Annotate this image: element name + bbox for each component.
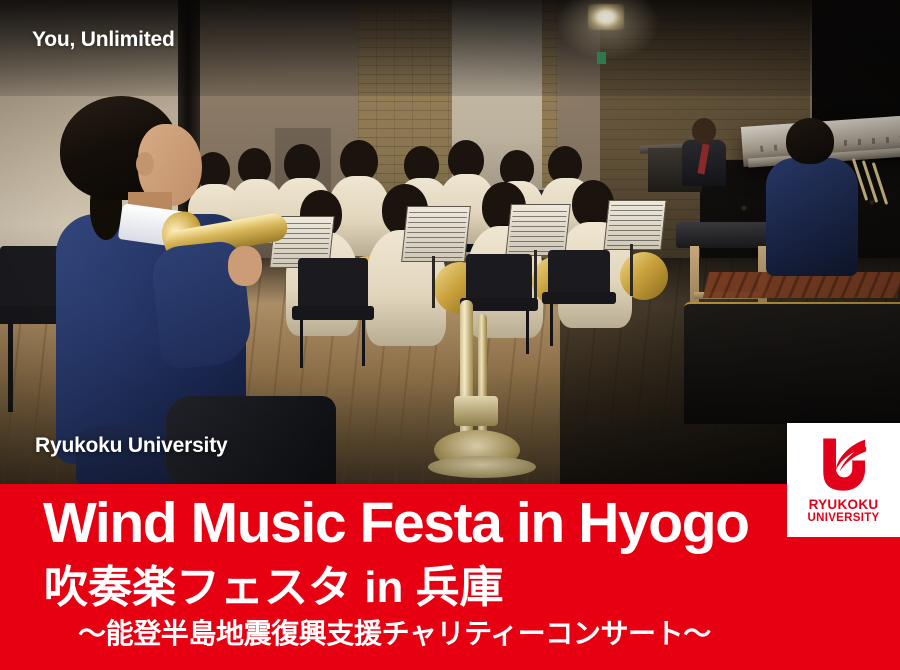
logo-name-line1: RYUKOKU: [787, 497, 900, 512]
stage-chair-back: [466, 254, 532, 302]
spotlight-icon: [588, 4, 624, 30]
sheet-music: [607, 204, 663, 246]
music-stand-pole: [534, 250, 537, 304]
music-stand: [603, 200, 666, 250]
poster-root: You, Unlimited Ryukoku University Wind M…: [0, 0, 900, 670]
concert-photo: You, Unlimited Ryukoku University: [0, 0, 900, 492]
music-stand-pole: [630, 244, 633, 296]
stage-chair-leg: [550, 304, 553, 346]
stage-chair-leg: [8, 322, 13, 412]
stage-chair-seat: [542, 292, 616, 304]
trumpet-stand-base: [428, 456, 536, 478]
stage-chair-leg: [300, 318, 303, 368]
stage-chair-back: [298, 258, 368, 310]
percussionist-head: [786, 118, 834, 164]
conductor-head: [692, 118, 716, 144]
sheet-music: [509, 208, 568, 252]
exit-sign-icon: [597, 52, 606, 64]
event-title-en: Wind Music Festa in Hyogo: [43, 495, 749, 552]
music-stand: [505, 204, 570, 256]
university-logo: RYUKOKU UNIVERSITY: [787, 423, 900, 537]
logo-wordmark: RYUKOKU UNIVERSITY: [787, 497, 900, 525]
percussionist-body: [766, 158, 858, 276]
tagline-text: You, Unlimited: [32, 28, 175, 52]
event-subtitle-ja: 〜能登半島地震復興支援チャリティーコンサート〜: [78, 620, 711, 648]
conductor: [680, 118, 726, 184]
university-caption: Ryukoku University: [35, 434, 227, 458]
ryukoku-u-wing-icon: [814, 435, 872, 493]
house-light: [870, 200, 874, 204]
foreground-trumpet-player: [46, 96, 296, 492]
player-ear: [136, 152, 154, 176]
event-title-ja: 吹奏楽フェスタ in 兵庫: [44, 566, 504, 610]
marimba-body: [684, 302, 900, 424]
music-stand: [401, 206, 471, 262]
stage-chair-back: [548, 250, 610, 296]
sheet-music: [404, 210, 467, 258]
resting-trumpet: [424, 300, 544, 482]
french-horn-bell: [620, 252, 668, 300]
percussionist: [762, 118, 858, 286]
logo-name-line2: UNIVERSITY: [787, 512, 900, 525]
trumpet-valves: [454, 396, 498, 426]
house-light: [742, 206, 746, 210]
stage-chair-leg: [362, 318, 365, 366]
player-hand: [228, 246, 262, 286]
